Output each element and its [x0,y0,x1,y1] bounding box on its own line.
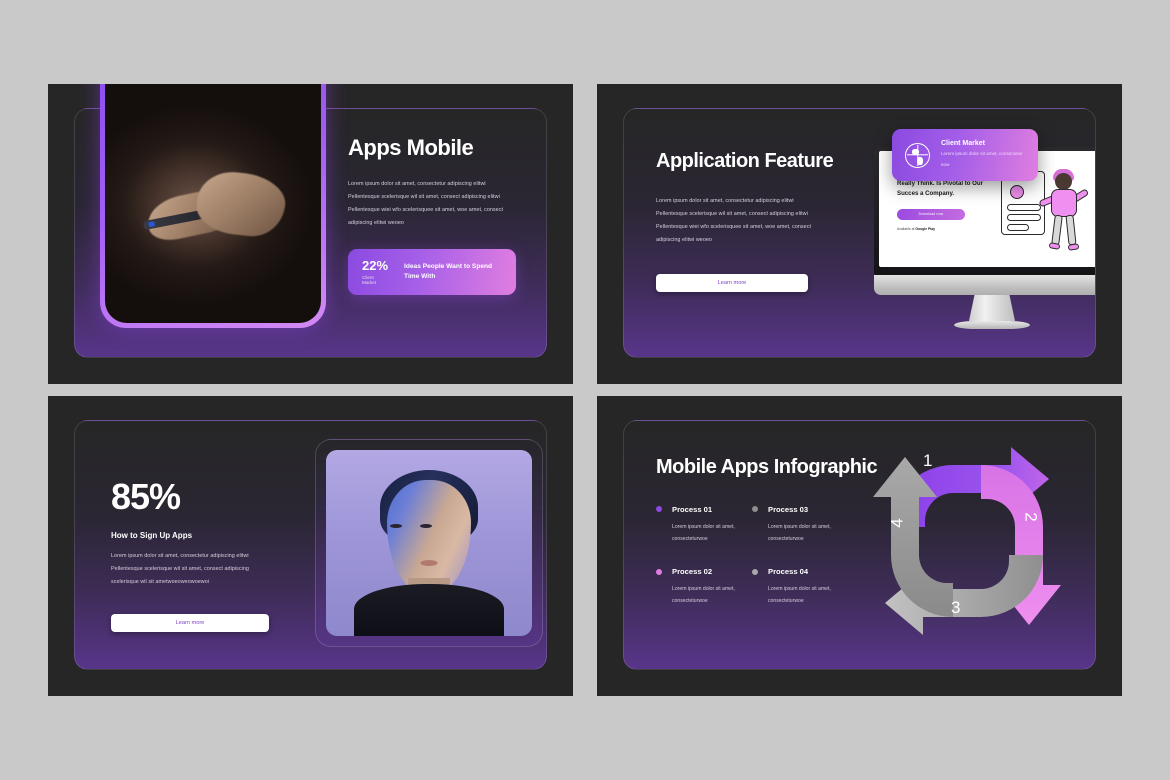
stat-percent: 85% [111,479,271,515]
badge-percent: 22% [362,259,388,272]
portrait-shirt [354,584,504,636]
slide1-content: Apps Mobile Lorem ipsum dolor sit amet, … [348,136,523,295]
process-list: Process 01 Lorem ipsum dolor sit amet, c… [656,505,886,608]
process-desc: Lorem ipsum dolor sit amet, consecteturw… [672,521,746,545]
page-title: Mobile Apps Infographic [656,457,886,479]
person-body [1051,189,1077,217]
process-desc: Lorem ipsum dolor sit amet, consecteturw… [672,583,746,607]
monitor-chin [874,275,1096,295]
slide3-content: 85% How to Sign Up Apps Lorem ipsum dolo… [111,479,271,632]
avatar-icon [1010,185,1024,199]
slide-deck-board: Apps Mobile Lorem ipsum dolor sit amet, … [0,0,1170,780]
client-market-card: Client Market Lorem ipsum dolor sit amet… [892,129,1038,181]
badge-stat-block: 22% Client Market [362,259,388,285]
cycle-number-1: 1 [923,451,932,471]
learn-more-button[interactable]: Learn more [656,274,808,292]
process-desc: Lorem ipsum dolor sit amet, consecteturw… [768,521,842,545]
portrait-frame [315,439,543,647]
card-line [1007,224,1029,231]
portrait-photo [326,450,532,636]
portrait-face [387,480,471,592]
bullet-dot-icon [656,506,662,512]
phone-mockup [100,84,326,328]
availability-note: Available at Google Play [897,227,1005,231]
bullet-dot-icon [752,569,758,575]
person-shoe-left [1049,242,1061,250]
client-card-text: Client Market Lorem ipsum dolor sit amet… [941,140,1025,170]
slide3-subtitle: How to Sign Up Apps [111,531,271,540]
slide-apps-mobile[interactable]: Apps Mobile Lorem ipsum dolor sit amet, … [48,84,573,384]
list-item[interactable]: Process 01 Lorem ipsum dolor sit amet, c… [656,505,752,545]
slide2-content: Application Feature Lorem ipsum dolor si… [656,151,836,292]
monitor-stand-foot [954,321,1030,329]
portrait-lips [421,560,438,566]
download-now-button[interactable]: Download now [897,209,965,220]
person-leg-left [1051,215,1063,246]
client-card-title: Client Market [941,140,1025,147]
slide-sign-up-apps[interactable]: 85% How to Sign Up Apps Lorem ipsum dolo… [48,396,573,696]
bullet-dot-icon [656,569,662,575]
stat-badge: 22% Client Market Ideas People Want to S… [348,249,516,295]
bullet-dot-icon [752,506,758,512]
portrait-eye-right [420,524,432,528]
slide-application-feature[interactable]: Application Feature Lorem ipsum dolor si… [597,84,1122,384]
cycle-number-4: 4 [888,518,908,527]
list-item[interactable]: Process 02 Lorem ipsum dolor sit amet, c… [656,567,752,607]
download-now-label: Download now [919,212,944,216]
process-name: Process 02 [672,567,712,576]
page-title: Apps Mobile [348,136,523,160]
person-head [1055,173,1072,190]
process-header: Process 02 [656,567,752,576]
process-desc: Lorem ipsum dolor sit amet, consecteturw… [768,583,842,607]
card-line [1007,204,1041,211]
learn-more-button[interactable]: Learn more [111,614,269,632]
client-card-body: Lorem ipsum dolor sit amet, consectetur … [941,149,1025,170]
process-header: Process 04 [752,567,848,576]
process-header: Process 03 [752,505,848,514]
globe-icon [905,143,930,168]
cycle-arrows-svg [861,435,1073,657]
list-item[interactable]: Process 04 Lorem ipsum dolor sit amet, c… [752,567,848,607]
monitor-stand-neck [969,295,1015,321]
slide2-body-text: Lorem ipsum dolor sit amet, consectetur … [656,195,824,248]
slide4-inner-card: Mobile Apps Infographic Process 01 Lorem… [623,420,1096,670]
process-name: Process 01 [672,505,712,514]
portrait-eye-left [390,524,402,528]
badge-percent-label: Client Market [362,275,388,285]
badge-text: Ideas People Want to Spend Time With [404,262,502,281]
person-leg-right [1065,215,1076,246]
process-header: Process 01 [656,505,752,514]
slide2-inner-card: Application Feature Lorem ipsum dolor si… [623,108,1096,358]
cycle-number-3: 3 [951,598,960,618]
available-prefix: Available at [897,227,914,231]
list-item[interactable]: Process 03 Lorem ipsum dolor sit amet, c… [752,505,848,545]
process-name: Process 03 [768,505,808,514]
store-name: Google Play [915,227,935,231]
cycle-diagram: 1 2 3 4 [861,435,1073,657]
slide-mobile-apps-infographic[interactable]: Mobile Apps Infographic Process 01 Lorem… [597,396,1122,696]
card-line [1007,214,1041,221]
page-title: Application Feature [656,151,836,173]
slide4-content: Mobile Apps Infographic Process 01 Lorem… [656,457,886,607]
process-name: Process 04 [768,567,808,576]
slide3-inner-card: 85% How to Sign Up Apps Lorem ipsum dolo… [74,420,547,670]
slide1-body-text: Lorem ipsum dolor sit amet, consectetur … [348,178,508,231]
cycle-number-2: 2 [1021,512,1041,521]
hands-phone-photo [105,84,321,323]
person-shoe-right [1068,243,1080,250]
slide3-body-text: Lorem ipsum dolor sit amet, consectetur … [111,550,263,590]
